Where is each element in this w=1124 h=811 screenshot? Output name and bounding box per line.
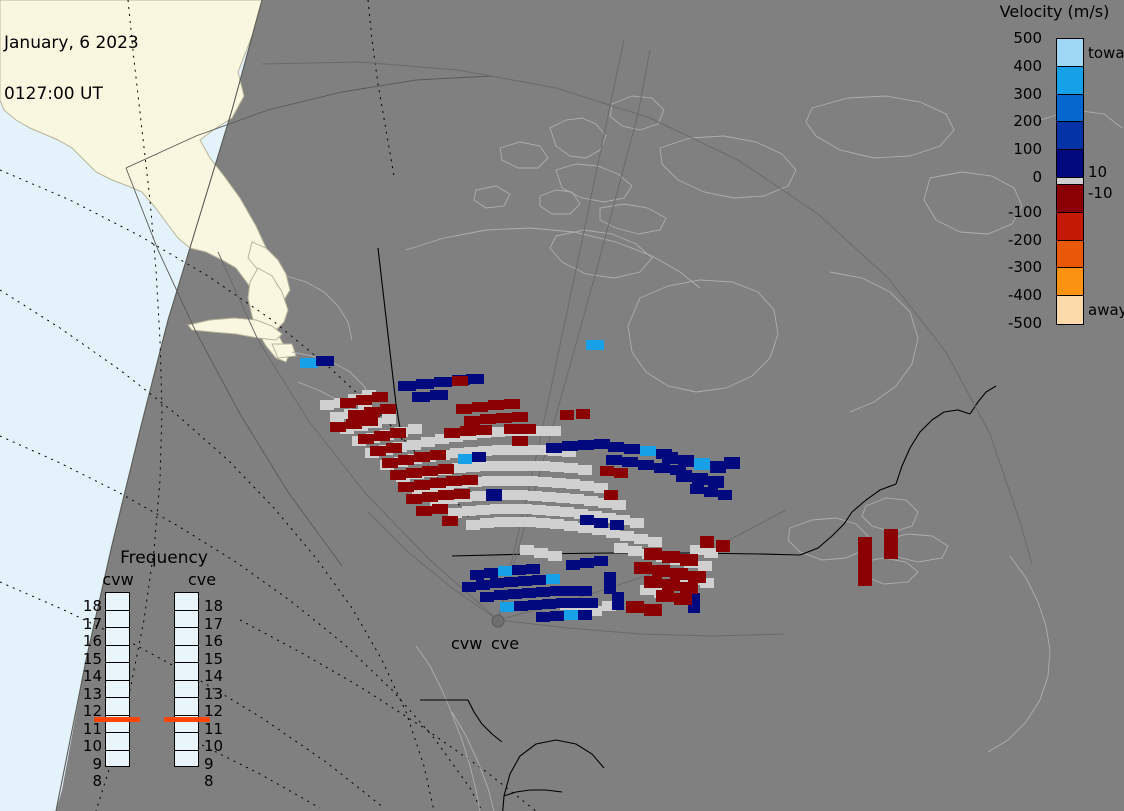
toward-cell — [640, 446, 656, 456]
ground-scatter-cell — [552, 478, 566, 488]
toward-cell — [522, 588, 536, 598]
toward-cell — [594, 518, 608, 528]
frequency-tick-label: 10 — [83, 740, 102, 753]
ground-scatter-cell — [472, 491, 486, 501]
frequency-tick-label: 16 — [204, 635, 223, 648]
frequency-cell — [175, 698, 198, 716]
away-cell — [716, 540, 730, 552]
away-cell — [604, 490, 618, 500]
time-label: 0127:00 UT — [4, 86, 139, 103]
frequency-tick-label: 8 — [92, 775, 102, 788]
away-cell — [680, 554, 698, 566]
ground-scatter-cell — [564, 463, 578, 473]
away-cell — [356, 395, 372, 405]
away-cell — [358, 434, 374, 444]
toward-cell — [566, 560, 580, 570]
toward-cell — [500, 602, 514, 612]
away-cell — [370, 446, 386, 456]
away-cell — [444, 428, 460, 438]
ground-scatter-cell — [534, 445, 548, 455]
toward-cell — [472, 452, 486, 462]
toward-cell — [594, 556, 608, 566]
ground-scatter-cell — [584, 496, 598, 506]
frequency-tick-label: 10 — [204, 740, 223, 753]
velocity-colorbar[interactable] — [1056, 38, 1084, 325]
toward-cell — [486, 489, 502, 501]
toward-cell — [678, 455, 694, 467]
ground-scatter-cell — [532, 505, 546, 515]
away-cell — [662, 551, 680, 563]
toward-cell — [580, 515, 594, 525]
toward-cell — [494, 590, 508, 600]
ground-scatter-cell — [550, 462, 564, 472]
toward-cell — [398, 381, 416, 391]
ground-scatter-cell — [506, 445, 520, 455]
frequency-tick-label: 11 — [83, 723, 102, 736]
frequency-cell — [106, 698, 129, 716]
ground-scatter-cell — [514, 490, 528, 500]
frequency-legend-title: Frequency — [84, 548, 244, 568]
ground-scatter-cell — [534, 548, 548, 558]
velocity-tick-labels: 5004003002001000-100-200-300-400-500 — [990, 0, 1052, 340]
away-cell — [700, 536, 714, 548]
colorbar-tick-label: 100 — [1013, 142, 1042, 156]
frequency-column-cve[interactable]: cve 18171615141312111098 — [168, 570, 236, 785]
toward-cell — [578, 610, 592, 620]
frequency-tick-label: 14 — [204, 670, 223, 683]
ground-scatter-cell — [570, 494, 584, 504]
away-cell — [346, 419, 362, 429]
ground-scatter-cell — [462, 506, 476, 516]
away-cell — [372, 392, 388, 402]
colorbar-segment — [1057, 241, 1083, 269]
away-cell — [340, 398, 356, 408]
toward-cell — [708, 476, 724, 488]
toward-cell — [638, 460, 654, 470]
away-cell — [422, 492, 438, 502]
toward-cell — [508, 589, 522, 599]
away-cell — [674, 593, 692, 605]
away-cell — [406, 468, 422, 478]
frequency-tick-label: 8 — [204, 775, 214, 788]
ground-scatter-cell — [452, 463, 466, 473]
away-cell — [504, 399, 520, 409]
toward-cell — [724, 457, 740, 469]
away-cell — [512, 436, 528, 446]
away-cell — [462, 475, 478, 485]
frequency-bar-cve[interactable] — [174, 592, 199, 767]
away-cell — [858, 537, 872, 569]
frequency-tick-label: 15 — [83, 653, 102, 666]
colorbar-segment — [1057, 39, 1083, 67]
colorbar-tick-label: 500 — [1013, 31, 1042, 45]
frequency-cell — [106, 751, 129, 769]
toward-cell — [562, 441, 578, 451]
toward-cell — [624, 444, 640, 454]
away-cell — [520, 424, 536, 434]
toward-cell — [704, 487, 718, 497]
colorbar-segment — [1057, 296, 1083, 324]
frequency-ticks-cvw: 18171615141312111098 — [78, 584, 102, 776]
away-cell — [644, 548, 662, 560]
toward-cell — [550, 611, 564, 621]
toward-cell — [578, 586, 592, 596]
away-cell — [496, 413, 512, 423]
ground-scatter-cell — [556, 493, 570, 503]
toward-cell — [480, 592, 494, 602]
ground-scatter-cell — [490, 504, 504, 514]
colorbar-tick-label: 0 — [1032, 170, 1042, 184]
ground-scatter-cell — [524, 476, 538, 486]
away-cell — [454, 489, 470, 499]
toward-cell — [462, 582, 476, 592]
toward-cell — [536, 587, 550, 597]
ground-scatter-cell — [508, 461, 522, 471]
ground-scatter-cell — [492, 445, 506, 455]
away-cell — [460, 426, 476, 436]
ground-scatter-cell — [560, 507, 574, 517]
frequency-cell — [106, 646, 129, 664]
colorbar-tick-label: -200 — [1008, 233, 1042, 247]
away-cell — [422, 466, 438, 476]
toward-cell — [484, 568, 498, 578]
away-cell — [406, 494, 422, 504]
away-cell — [416, 506, 432, 516]
colorbar-segment — [1057, 150, 1083, 178]
ground-scatter-cell — [500, 490, 514, 500]
ground-scatter-cell — [476, 505, 490, 515]
ground-scatter-cell — [382, 414, 396, 424]
ground-scatter-cell — [578, 465, 592, 475]
away-cell — [512, 412, 528, 422]
away-cell — [472, 402, 488, 412]
ground-scatter-cell — [620, 531, 634, 541]
away-cell — [390, 470, 406, 480]
toward-cell — [564, 610, 578, 620]
frequency-cell — [175, 663, 198, 681]
frequency-tick-label: 13 — [204, 688, 223, 701]
ground-scatter-cell — [421, 437, 435, 447]
frequency-cell — [175, 593, 198, 611]
frequency-tick-label: 9 — [92, 758, 102, 771]
ground-scatter-cell — [566, 479, 580, 489]
toward-cell — [580, 558, 594, 568]
away-cell — [504, 424, 520, 434]
colorbar-segment — [1057, 95, 1083, 123]
colorbar-segment — [1057, 268, 1083, 296]
colorbar-segment — [1057, 122, 1083, 150]
ground-scatter-cell — [542, 492, 556, 502]
toward-cell — [556, 598, 570, 608]
ground-scatter-cell — [536, 518, 550, 528]
frequency-cell — [106, 611, 129, 629]
frequency-tick-label: 17 — [204, 618, 223, 631]
away-cell — [688, 571, 706, 583]
radar-site-marker — [492, 615, 504, 627]
frequency-cell — [175, 733, 198, 751]
toward-cell — [584, 598, 598, 608]
away-cell — [380, 404, 396, 414]
toward-cell — [430, 390, 448, 400]
ground-scatter-cell — [564, 521, 578, 531]
colorbar-segment — [1057, 185, 1083, 213]
ground-scatter-cell — [528, 491, 542, 501]
away-label: away — [1088, 303, 1124, 317]
toward-cell — [594, 439, 610, 449]
toward-cell — [532, 575, 546, 585]
positive-threshold-label: 10 — [1088, 165, 1107, 179]
toward-cell — [300, 358, 318, 368]
toward-cell — [412, 392, 430, 402]
date-label: January, 6 2023 — [4, 35, 139, 52]
away-cell — [488, 400, 504, 410]
toward-cell — [586, 340, 604, 350]
frequency-tick-label: 18 — [83, 600, 102, 613]
ground-scatter-cell — [320, 400, 334, 410]
frequency-tick-label: 11 — [204, 723, 223, 736]
toward-cell — [718, 490, 732, 500]
ground-scatter-cell — [407, 440, 421, 450]
frequency-ticks-cve: 18171615141312111098 — [204, 584, 228, 776]
toward-cell — [498, 566, 512, 576]
toward-cell — [434, 377, 452, 387]
away-cell — [858, 566, 872, 586]
away-cell — [374, 431, 390, 441]
toward-cell — [710, 461, 726, 473]
frequency-cell — [175, 628, 198, 646]
ground-scatter-cell — [408, 424, 422, 434]
away-cell — [456, 404, 472, 414]
frequency-tick-label: 16 — [83, 635, 102, 648]
colorbar-segment — [1057, 67, 1083, 95]
toward-cell — [622, 457, 638, 467]
toward-cell — [518, 576, 532, 586]
away-cell — [438, 490, 454, 500]
toward-cell — [458, 454, 472, 464]
away-cell — [480, 414, 496, 424]
frequency-bar-cvw[interactable] — [105, 592, 130, 767]
away-cell — [656, 590, 674, 602]
frequency-tick-label: 18 — [204, 600, 223, 613]
away-cell — [432, 504, 448, 514]
ground-scatter-cell — [496, 476, 510, 486]
colorbar-tick-label: -100 — [1008, 205, 1042, 219]
ground-scatter-cell — [536, 461, 550, 471]
toward-cell — [512, 565, 526, 575]
ground-scatter-cell — [548, 551, 562, 561]
toward-cell — [490, 578, 504, 588]
away-cell — [644, 576, 662, 588]
colorbar-segment — [1057, 213, 1083, 241]
ground-scatter-cell — [698, 561, 712, 571]
toward-cell — [526, 564, 540, 574]
toward-cell — [662, 452, 678, 464]
ground-scatter-cell — [612, 500, 626, 510]
frequency-cell — [106, 593, 129, 611]
ground-scatter-cell — [518, 504, 532, 514]
colorbar-tick-label: -500 — [1008, 316, 1042, 330]
away-cell — [662, 579, 680, 591]
ground-scatter-cell — [520, 545, 534, 555]
toward-cell — [694, 458, 710, 470]
toward-cell — [536, 612, 550, 622]
toward-cell — [514, 601, 528, 611]
colorbar-segment — [1057, 178, 1083, 185]
toward-cell — [676, 470, 692, 482]
toward-cell — [316, 356, 334, 366]
away-cell — [390, 428, 406, 438]
away-cell — [430, 478, 446, 488]
colorbar-tick-label: 200 — [1013, 114, 1042, 128]
away-cell — [884, 529, 898, 559]
away-cell — [430, 450, 446, 460]
ground-scatter-cell — [634, 534, 648, 544]
ground-scatter-cell — [546, 506, 560, 516]
away-cell — [670, 568, 688, 580]
toward-cell — [608, 442, 624, 452]
toward-cell — [604, 572, 616, 594]
frequency-tick-label: 9 — [204, 758, 214, 771]
site-label-cve: cve — [491, 634, 519, 653]
away-cell — [414, 480, 430, 490]
negative-threshold-label: -10 — [1088, 186, 1113, 200]
ground-scatter-cell — [522, 517, 536, 527]
away-cell — [442, 516, 458, 526]
frequency-cell — [175, 646, 198, 664]
frequency-tick-label: 17 — [83, 618, 102, 631]
toward-cell — [416, 379, 434, 389]
toward-cell — [466, 374, 484, 384]
away-cell — [600, 466, 614, 476]
away-cell — [560, 410, 574, 420]
ground-scatter-cell — [504, 504, 518, 514]
ground-scatter-cell — [508, 517, 522, 527]
frequency-cell — [175, 681, 198, 699]
away-cell — [446, 476, 462, 486]
toward-cell — [504, 577, 518, 587]
away-cell — [464, 416, 480, 426]
ground-scatter-cell — [482, 476, 496, 486]
frequency-marker — [164, 717, 210, 722]
away-cell — [476, 425, 492, 435]
away-cell — [330, 422, 346, 432]
toward-cell — [542, 599, 556, 609]
away-cell — [414, 452, 430, 462]
frequency-cell — [106, 681, 129, 699]
colorbar-tick-label: -400 — [1008, 288, 1042, 302]
frequency-cell — [106, 733, 129, 751]
toward-cell — [692, 473, 708, 485]
ground-scatter-cell — [547, 426, 561, 436]
toward-label: toward — [1088, 46, 1124, 60]
toward-cell — [546, 574, 560, 584]
away-cell — [652, 565, 670, 577]
away-cell — [364, 407, 380, 417]
toward-cell — [550, 586, 564, 596]
away-cell — [626, 601, 644, 613]
ground-scatter-cell — [648, 537, 662, 547]
ground-scatter-cell — [330, 412, 344, 422]
ground-scatter-cell — [480, 461, 494, 471]
toward-cell — [564, 586, 578, 596]
away-cell — [348, 410, 364, 420]
toward-cell — [476, 580, 490, 590]
away-cell — [382, 458, 398, 468]
toward-cell — [612, 592, 624, 610]
frequency-marker — [94, 717, 140, 722]
away-cell — [614, 468, 628, 478]
ground-scatter-cell — [494, 517, 508, 527]
frequency-cell — [175, 611, 198, 629]
timestamp-block: January, 6 2023 0127:00 UT — [4, 1, 139, 137]
away-cell — [386, 443, 402, 453]
toward-cell — [654, 463, 670, 473]
away-cell — [452, 376, 468, 386]
ground-scatter-cell — [630, 518, 644, 528]
ground-scatter-cell — [494, 461, 508, 471]
velocity-side-labels: toward10-10away — [1088, 0, 1124, 340]
ground-scatter-cell — [538, 477, 552, 487]
colorbar-tick-label: 300 — [1013, 87, 1042, 101]
toward-cell — [528, 600, 542, 610]
ground-scatter-cell — [628, 546, 642, 556]
ground-scatter-cell — [522, 461, 536, 471]
frequency-cell — [106, 663, 129, 681]
toward-cell — [570, 598, 584, 608]
frequency-cell — [175, 751, 198, 769]
colorbar-tick-label: -300 — [1008, 260, 1042, 274]
colorbar-tick-label: 400 — [1013, 59, 1042, 73]
toward-cell — [610, 520, 624, 530]
away-cell — [398, 455, 414, 465]
ground-scatter-cell — [704, 548, 718, 558]
ground-scatter-cell — [510, 476, 524, 486]
toward-cell — [546, 443, 562, 453]
away-cell — [644, 604, 662, 616]
ground-scatter-cell — [580, 481, 594, 491]
ground-scatter-cell — [520, 445, 534, 455]
ground-scatter-cell — [614, 543, 628, 553]
frequency-tick-label: 14 — [83, 670, 102, 683]
ground-scatter-cell — [480, 518, 494, 528]
away-cell — [576, 409, 590, 419]
frequency-legend: Frequency cvw 18171615141312111098 cve 1… — [84, 548, 244, 788]
radar-plot-root: January, 6 2023 0127:00 UT Velocity (m/s… — [0, 0, 1124, 811]
frequency-cell — [106, 628, 129, 646]
toward-cell — [690, 484, 704, 494]
away-cell — [680, 582, 698, 594]
away-cell — [634, 562, 652, 574]
away-cell — [438, 464, 454, 474]
toward-cell — [470, 570, 484, 580]
ground-scatter-cell — [550, 519, 564, 529]
site-label-cvw: cvw — [451, 634, 482, 653]
ground-scatter-cell — [466, 520, 480, 530]
frequency-tick-label: 13 — [83, 688, 102, 701]
ground-scatter-cell — [491, 427, 505, 437]
frequency-tick-label: 15 — [204, 653, 223, 666]
toward-cell — [606, 455, 622, 465]
frequency-column-cvw[interactable]: cvw 18171615141312111098 — [84, 570, 152, 785]
toward-cell — [578, 440, 594, 450]
away-cell — [362, 416, 378, 426]
away-cell — [398, 482, 414, 492]
